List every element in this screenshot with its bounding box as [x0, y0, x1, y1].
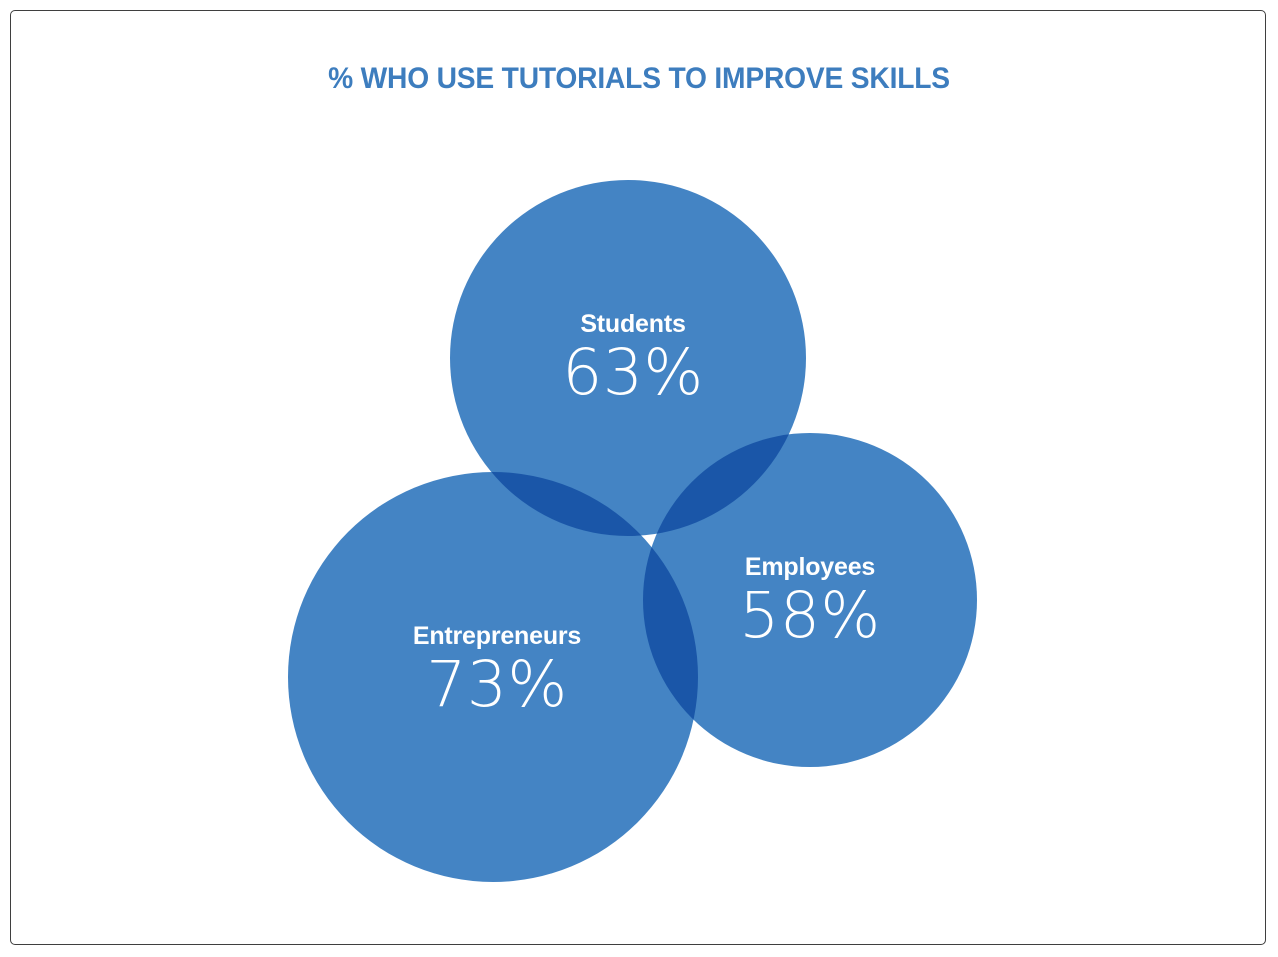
- venn-diagram: [0, 0, 1278, 957]
- slide-canvas: % WHO USE TUTORIALS TO IMPROVE SKILLS St…: [0, 0, 1278, 957]
